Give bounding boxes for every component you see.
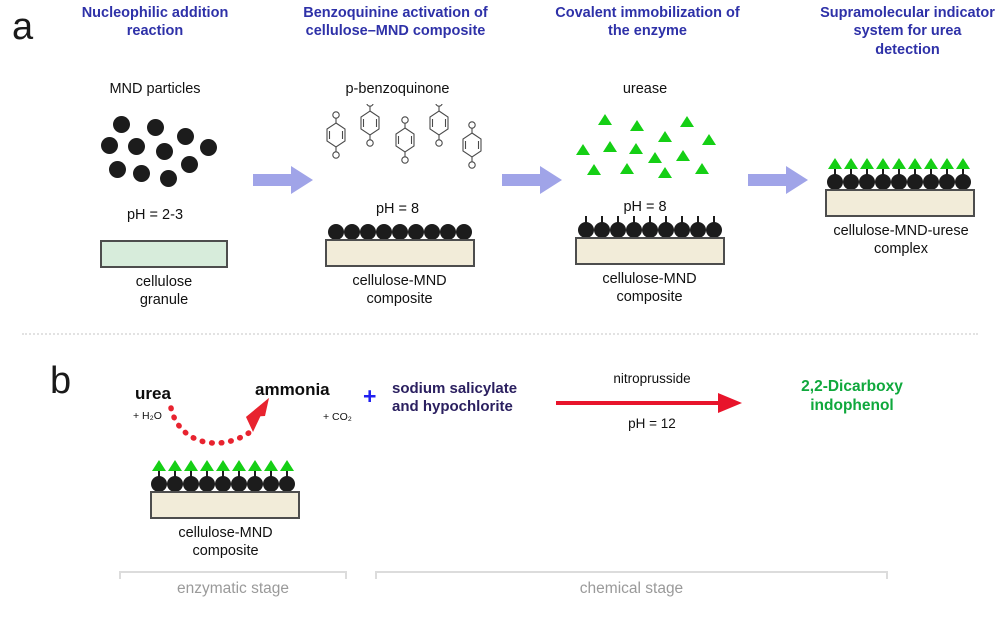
mnd-particle — [200, 139, 217, 156]
urease-triangle — [658, 131, 672, 142]
urease-triangle — [676, 150, 690, 161]
mnd-particle — [133, 165, 150, 182]
urease-triangle — [152, 460, 166, 471]
substrate-label-stage-3: cellulose-MND composite — [562, 270, 737, 306]
mnd-bead — [594, 222, 610, 238]
mnd-bead — [151, 476, 167, 492]
ph-label-stage-1: pH = 2-3 — [75, 206, 235, 224]
mnd-bead — [891, 174, 907, 190]
urease-triangle — [892, 158, 906, 169]
stage-label-enzymatic-wrap: enzymatic stage — [119, 580, 347, 598]
urease-triangle — [620, 163, 634, 174]
stage-title-4: Supramolecular indicator system for urea… — [820, 4, 995, 59]
enzymatic-curved-arrow — [165, 392, 295, 460]
stage-label-chemical-wrap: chemical stage — [375, 580, 888, 598]
mnd-bead — [674, 222, 690, 238]
mnd-bead — [578, 222, 594, 238]
bracket-chemical-stage — [375, 571, 888, 579]
stage-title-2: Benzoquinine activation of cellulose–MND… — [288, 4, 503, 41]
cellulose-mnd-slab-panel-b — [150, 491, 300, 519]
mnd-bead — [231, 476, 247, 492]
urease-triangle — [603, 141, 617, 152]
urease-triangle — [876, 158, 890, 169]
plus-sign: + — [363, 385, 376, 408]
condition-ph: pH = 12 — [557, 416, 747, 431]
urease-triangle — [860, 158, 874, 169]
panel-letter-b: b — [50, 362, 71, 400]
stage-label-chemical: chemical stage — [375, 580, 888, 598]
mnd-bead — [456, 224, 472, 240]
mnd-particle — [147, 119, 164, 136]
bead-row-stage-2 — [328, 224, 473, 240]
panel-divider — [22, 333, 978, 335]
enzyme-bead-row-stage-4 — [828, 158, 978, 190]
urease-triangle — [908, 158, 922, 169]
process-arrow-2 — [502, 165, 564, 195]
species-label-benzoquinone: p-benzoquinone — [310, 80, 485, 98]
urease-triangle — [598, 114, 612, 125]
species-label-mnd: MND particles — [75, 80, 235, 98]
mnd-bead — [626, 222, 642, 238]
urease-triangle — [280, 460, 294, 471]
final-product-label: 2,2-Dicarboxy indophenol — [752, 378, 952, 416]
cellulose-mnd-urease-slab — [825, 189, 975, 217]
mnd-bead — [923, 174, 939, 190]
ph-label-stage-2: pH = 8 — [310, 200, 485, 218]
mnd-bead — [907, 174, 923, 190]
bracket-enzymatic-stage — [119, 571, 347, 579]
process-arrow-3 — [748, 165, 810, 195]
stage-title-1: Nucleophilic addition reaction — [60, 4, 250, 41]
urease-triangle — [648, 152, 662, 163]
urease-triangle — [629, 143, 643, 154]
reactant-sublabel-water: + H₂O — [133, 410, 162, 422]
condition-nitroprusside: nitroprusside — [557, 371, 747, 386]
stage-label-enzymatic: enzymatic stage — [119, 580, 347, 598]
urease-triangle-cluster — [572, 108, 722, 188]
mnd-particle — [113, 116, 130, 133]
mnd-particle — [177, 128, 194, 145]
urease-triangle — [216, 460, 230, 471]
urease-triangle — [658, 167, 672, 178]
stage-title-3: Covalent immobilization of the enzyme — [545, 4, 750, 41]
chemical-reaction-arrow — [556, 393, 746, 413]
urease-triangle — [702, 134, 716, 145]
urease-triangle — [630, 120, 644, 131]
urease-triangle — [168, 460, 182, 471]
mnd-bead — [215, 476, 231, 492]
mnd-bead — [328, 224, 344, 240]
ph-label-stage-3: pH = 8 — [565, 198, 725, 216]
enzyme-bead-row-panel-b — [152, 460, 302, 492]
urease-triangle — [924, 158, 938, 169]
cellulose-mnd-slab-stage-2 — [325, 239, 475, 267]
substrate-label-panel-b: cellulose-MND composite — [138, 524, 313, 560]
substrate-label-stage-1: cellulose granule — [78, 273, 250, 309]
urease-triangle — [844, 158, 858, 169]
mnd-bead — [392, 224, 408, 240]
urease-triangle — [956, 158, 970, 169]
urease-triangle — [248, 460, 262, 471]
mnd-particle — [181, 156, 198, 173]
mnd-bead — [875, 174, 891, 190]
urease-triangle — [576, 144, 590, 155]
mnd-bead — [440, 224, 456, 240]
substrate-label-stage-2: cellulose-MND composite — [312, 272, 487, 308]
mnd-bead — [859, 174, 875, 190]
urease-triangle — [828, 158, 842, 169]
product-sublabel-co2: + CO₂ — [323, 411, 352, 423]
mnd-bead — [167, 476, 183, 492]
mnd-bead — [376, 224, 392, 240]
mnd-particle-cluster — [82, 108, 222, 200]
mnd-bead — [408, 224, 424, 240]
urease-triangle — [264, 460, 278, 471]
mnd-bead — [658, 222, 674, 238]
urease-triangle — [232, 460, 246, 471]
mnd-bead — [690, 222, 706, 238]
benzoquinone-molecule-group — [322, 104, 487, 196]
mnd-bead — [939, 174, 955, 190]
mnd-bead — [955, 174, 971, 190]
mnd-bead — [199, 476, 215, 492]
mnd-bead — [360, 224, 376, 240]
reagents-label: sodium salicylate and hypochlorite — [392, 380, 552, 417]
mnd-bead — [706, 222, 722, 238]
mnd-particle — [109, 161, 126, 178]
process-arrow-1 — [253, 165, 315, 195]
mnd-bead — [263, 476, 279, 492]
urease-triangle — [200, 460, 214, 471]
mnd-bead — [424, 224, 440, 240]
urease-triangle — [184, 460, 198, 471]
cellulose-granule-slab — [100, 240, 228, 268]
panel-letter-a: a — [12, 8, 33, 46]
mnd-bead — [843, 174, 859, 190]
urease-triangle — [680, 116, 694, 127]
mnd-bead — [827, 174, 843, 190]
figure-root: a Nucleophilic addition reaction Benzoqu… — [0, 0, 1000, 618]
mnd-bead — [642, 222, 658, 238]
substrate-label-stage-4: cellulose-MND-urese complex — [805, 222, 997, 258]
mnd-bead — [247, 476, 263, 492]
mnd-bead — [183, 476, 199, 492]
urease-triangle — [695, 163, 709, 174]
species-label-urease: urease — [565, 80, 725, 98]
mnd-bead — [279, 476, 295, 492]
mnd-particle — [128, 138, 145, 155]
urease-triangle — [587, 164, 601, 175]
mnd-particle — [156, 143, 173, 160]
mnd-bead — [344, 224, 360, 240]
mnd-particle — [101, 137, 118, 154]
mnd-particle — [160, 170, 177, 187]
mnd-bead — [610, 222, 626, 238]
urease-triangle — [940, 158, 954, 169]
cellulose-mnd-slab-stage-3 — [575, 237, 725, 265]
